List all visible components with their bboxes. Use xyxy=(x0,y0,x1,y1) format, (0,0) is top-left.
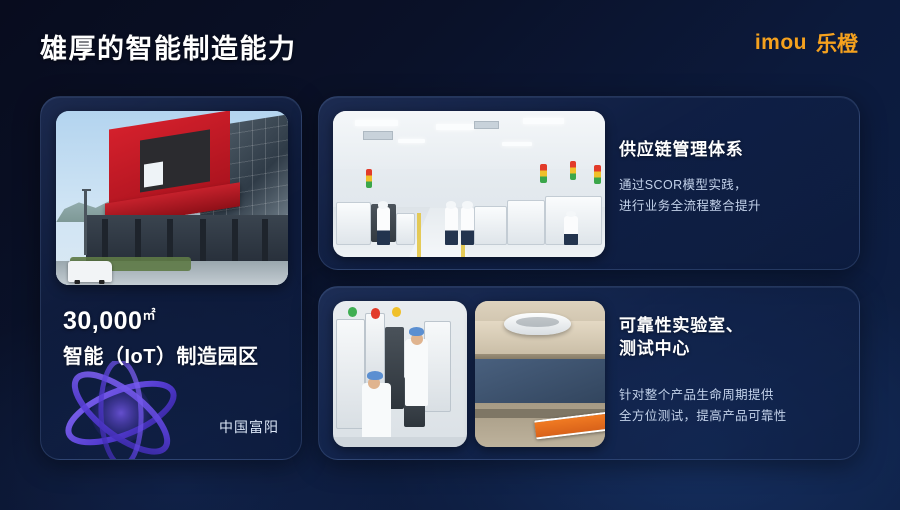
brand-logo: imou 乐橙 xyxy=(755,28,858,58)
status-light-amber xyxy=(392,307,401,317)
stat-number: 30,000 xyxy=(63,307,142,335)
facility-card[interactable]: 30,000㎡ 智能（IoT）制造园区 中国富阳 xyxy=(40,96,302,460)
lab-photo xyxy=(333,301,467,447)
logo-chinese-name: 乐橙 xyxy=(816,28,858,58)
blue-panel xyxy=(475,359,605,403)
worker-figure xyxy=(564,216,578,245)
technician-figure xyxy=(405,339,428,406)
worker-figure xyxy=(445,207,459,245)
desc-line-2: 全方位测试，提高产品可靠性 xyxy=(619,406,851,427)
smt-machine-icon xyxy=(507,200,545,245)
worker-figure xyxy=(461,207,475,245)
technician-figure xyxy=(362,383,390,441)
signal-tower-icon xyxy=(540,164,547,183)
floor-marking xyxy=(417,213,421,257)
ceiling-light-icon xyxy=(436,124,474,130)
smt-machine-icon xyxy=(396,213,415,245)
desc-line-2: 进行业务全流程整合提升 xyxy=(619,196,847,217)
title-line-1: 可靠性实验室、 xyxy=(619,315,851,338)
street-lamp-icon xyxy=(84,189,87,255)
ceiling-light-icon xyxy=(398,139,425,143)
supply-chain-description: 通过SCOR模型实践， 进行业务全流程整合提升 xyxy=(619,175,847,216)
factory-photo xyxy=(333,111,605,257)
ceiling-light-icon xyxy=(502,142,532,146)
stat-number-row: 30,000㎡ xyxy=(63,307,283,336)
page-title: 雄厚的智能制造能力 xyxy=(40,27,297,66)
title-line-2: 测试中心 xyxy=(619,338,851,361)
signal-tower-icon xyxy=(594,165,601,184)
signal-tower-icon xyxy=(570,161,577,180)
smt-machine-icon xyxy=(336,202,371,246)
test-equipment-icon xyxy=(336,319,365,430)
facility-location: 中国富阳 xyxy=(219,417,279,437)
shuttle-cart-icon xyxy=(68,261,112,282)
robot-test-photo xyxy=(475,301,605,447)
robot-vacuum-icon xyxy=(504,313,572,335)
facade-window xyxy=(144,162,163,188)
floor-layer xyxy=(333,437,467,447)
ceiling-light-icon xyxy=(355,120,399,126)
column-icon xyxy=(262,219,268,264)
column-icon xyxy=(232,219,238,264)
hair-cap-icon xyxy=(409,327,424,336)
status-light-red xyxy=(371,308,380,318)
signal-tower-icon xyxy=(366,169,373,188)
atom-swirl-decoration xyxy=(51,361,193,460)
supply-chain-text: 供应链管理体系 通过SCOR模型实践， 进行业务全流程整合提升 xyxy=(619,139,847,216)
desc-line-1: 通过SCOR模型实践， xyxy=(619,175,847,196)
stat-unit: ㎡ xyxy=(142,308,156,323)
logo-wordmark: imou xyxy=(755,31,807,55)
stat-subtitle: 智能（IoT）制造园区 xyxy=(63,340,283,369)
worker-figure xyxy=(377,207,391,245)
slide-canvas: 雄厚的智能制造能力 imou 乐橙 xyxy=(0,0,900,510)
reliability-lab-text: 可靠性实验室、 测试中心 针对整个产品生命周期提供 全方位测试，提高产品可靠性 xyxy=(619,315,851,426)
smt-machine-icon xyxy=(474,206,507,245)
supply-chain-card[interactable]: 供应链管理体系 通过SCOR模型实践， 进行业务全流程整合提升 xyxy=(318,96,860,270)
status-light-green xyxy=(348,307,357,317)
air-vent-icon xyxy=(363,131,393,140)
test-equipment-icon xyxy=(424,321,451,412)
air-vent-icon xyxy=(474,121,498,128)
hair-cap-icon xyxy=(367,371,383,380)
ceiling-light-icon xyxy=(523,118,564,124)
slide-header: 雄厚的智能制造能力 imou 乐橙 xyxy=(0,0,900,86)
desc-line-1: 针对整个产品生命周期提供 xyxy=(619,385,851,406)
building-photo xyxy=(56,111,288,285)
reliability-lab-title: 可靠性实验室、 测试中心 xyxy=(619,315,851,361)
column-icon xyxy=(200,219,206,264)
reliability-lab-description: 针对整个产品生命周期提供 全方位测试，提高产品可靠性 xyxy=(619,385,851,426)
reliability-lab-card[interactable]: 可靠性实验室、 测试中心 针对整个产品生命周期提供 全方位测试，提高产品可靠性 xyxy=(318,286,860,460)
facility-stat: 30,000㎡ 智能（IoT）制造园区 xyxy=(63,307,283,369)
supply-chain-title: 供应链管理体系 xyxy=(619,139,847,162)
